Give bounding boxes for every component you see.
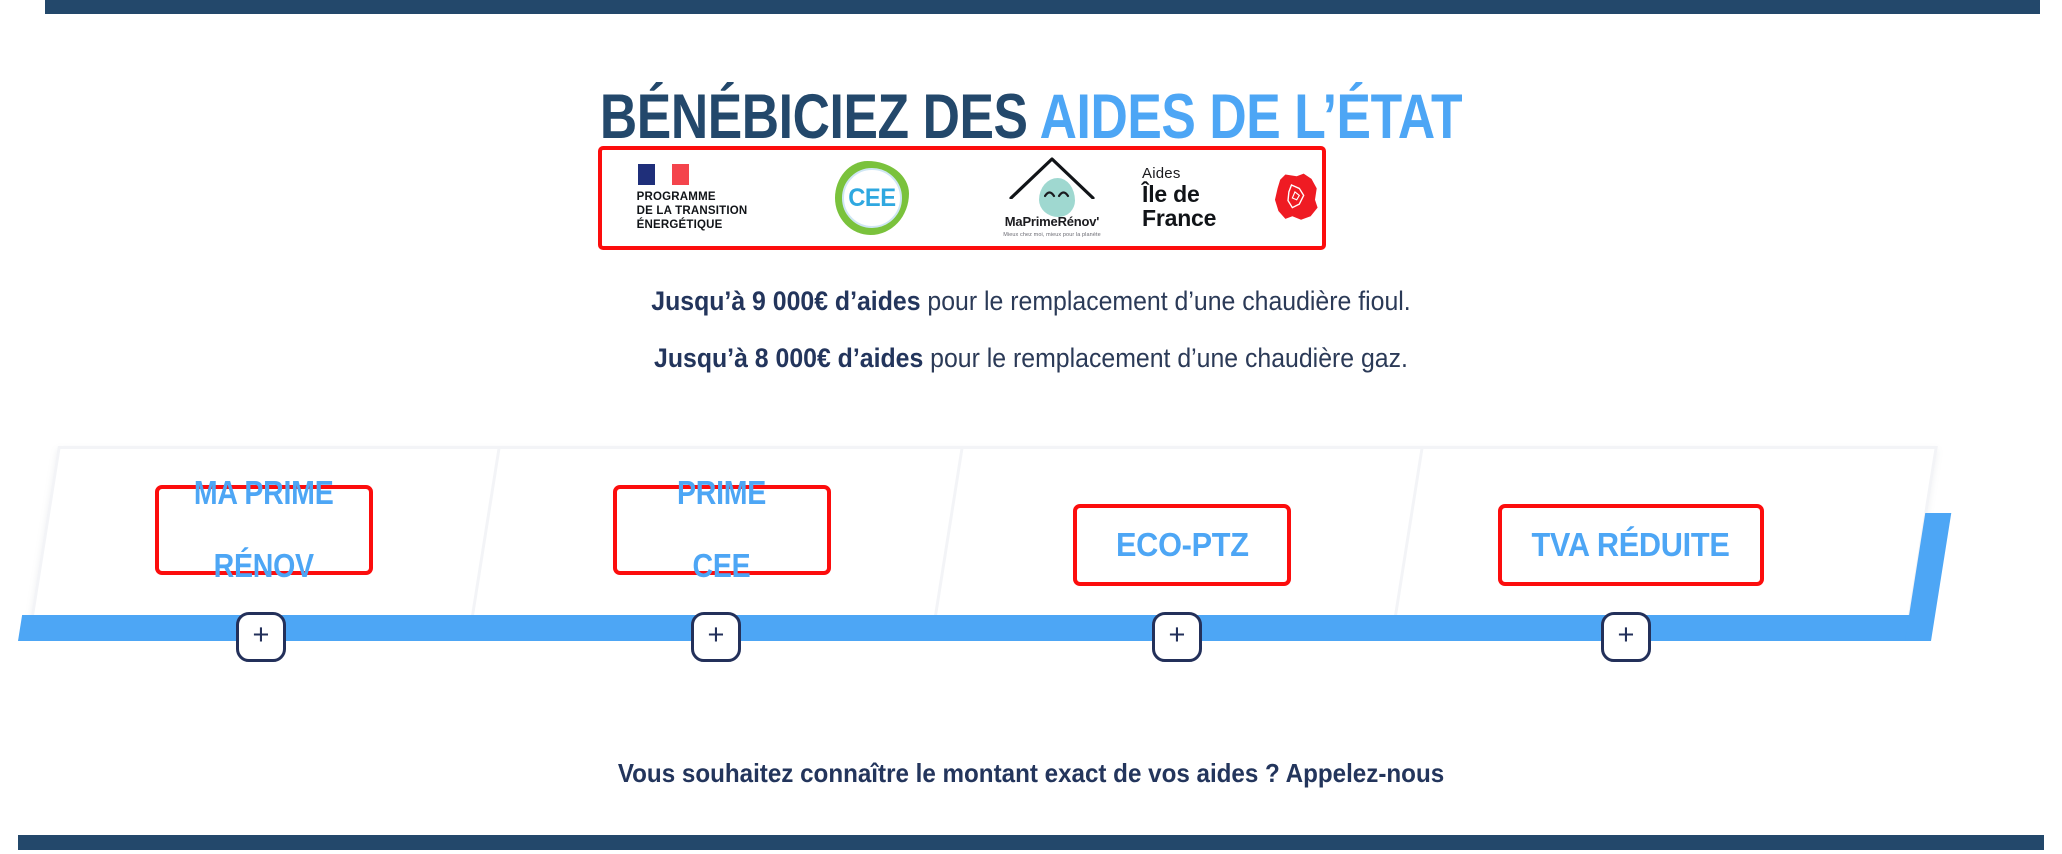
aid-card-2-line-1: PRIME xyxy=(677,475,766,512)
subtitle-line-fioul: Jusqu’à 9 000€ d’aides pour le remplacem… xyxy=(82,286,1979,317)
pte-line-1: PROGRAMME xyxy=(637,190,748,204)
maprimerenov-tagline: Mieux chez moi, mieux pour la planète xyxy=(987,232,1117,238)
idf-line-2: Île de France xyxy=(1142,182,1262,230)
subtitle-fioul-amount: Jusqu’à 9 000€ d’aides xyxy=(651,286,920,316)
logo-programme-transition-energetique: PROGRAMME DE LA TRANSITION ÉNERGÉTIQUE xyxy=(602,150,782,246)
subtitle-line-gaz: Jusqu’à 8 000€ d’aides pour le remplacem… xyxy=(82,343,1979,374)
aid-card-3-expand-button[interactable]: + xyxy=(1152,612,1202,662)
pte-line-3: ÉNERGÉTIQUE xyxy=(637,218,748,232)
panel-separator-2 xyxy=(933,449,963,619)
maprimerenov-label: MaPrimeRénov' xyxy=(987,214,1117,229)
top-divider-bar xyxy=(45,0,2040,14)
ile-de-france-map-icon xyxy=(1268,167,1322,229)
subtitle-gaz-amount: Jusqu’à 8 000€ d’aides xyxy=(654,343,923,373)
panel-separator-1 xyxy=(470,449,500,619)
aid-card-1-line-1: MA PRIME xyxy=(194,475,334,512)
aid-card-eco-ptz[interactable]: ECO-PTZ xyxy=(1073,504,1291,586)
aid-card-tva-reduite[interactable]: TVA RÉDUITE xyxy=(1498,504,1764,586)
aid-card-2-line-2: CEE xyxy=(677,548,766,585)
aid-card-prime-cee[interactable]: PRIME CEE xyxy=(613,485,831,575)
aids-band: MA PRIME RÉNOV + PRIME CEE + ECO-PTZ + T… xyxy=(0,430,2062,660)
page-title: BÉNÉBICIEZ DES AIDES DE L’ÉTAT xyxy=(186,86,1877,149)
logo-aides-ile-de-france: Aides Île de France xyxy=(1142,150,1322,246)
pte-line-2: DE LA TRANSITION xyxy=(637,204,748,218)
aid-card-1-line-2: RÉNOV xyxy=(194,548,334,585)
bottom-divider-bar xyxy=(18,835,2044,850)
idf-line-1: Aides xyxy=(1142,166,1262,182)
logo-cee: CEE xyxy=(782,150,962,246)
partner-logos-strip: PROGRAMME DE LA TRANSITION ÉNERGÉTIQUE C… xyxy=(598,146,1326,250)
subtitle-fioul-rest: pour le remplacement d’une chaudière fio… xyxy=(921,286,1411,316)
logo-maprimerenov: MaPrimeRénov' Mieux chez moi, mieux pour… xyxy=(962,150,1142,246)
panel-separator-3 xyxy=(1393,449,1423,619)
aid-card-1-expand-button[interactable]: + xyxy=(236,612,286,662)
page-title-dark-part: BÉNÉBICIEZ DES xyxy=(600,82,1040,152)
aid-card-3-line-1: ECO-PTZ xyxy=(1116,527,1249,564)
cee-label: CEE xyxy=(848,184,895,213)
aid-card-2-expand-button[interactable]: + xyxy=(691,612,741,662)
aid-card-4-expand-button[interactable]: + xyxy=(1601,612,1651,662)
subtitle-gaz-rest: pour le remplacement d’une chaudière gaz… xyxy=(923,343,1408,373)
aid-card-4-line-1: TVA RÉDUITE xyxy=(1532,527,1730,564)
aid-card-ma-prime-renov[interactable]: MA PRIME RÉNOV xyxy=(155,485,373,575)
page-title-light-part: AIDES DE L’ÉTAT xyxy=(1040,82,1462,152)
footer-call-question: Vous souhaitez connaître le montant exac… xyxy=(72,758,1990,789)
french-flag-icon xyxy=(638,164,689,185)
smiling-eyes-icon xyxy=(1044,188,1070,198)
